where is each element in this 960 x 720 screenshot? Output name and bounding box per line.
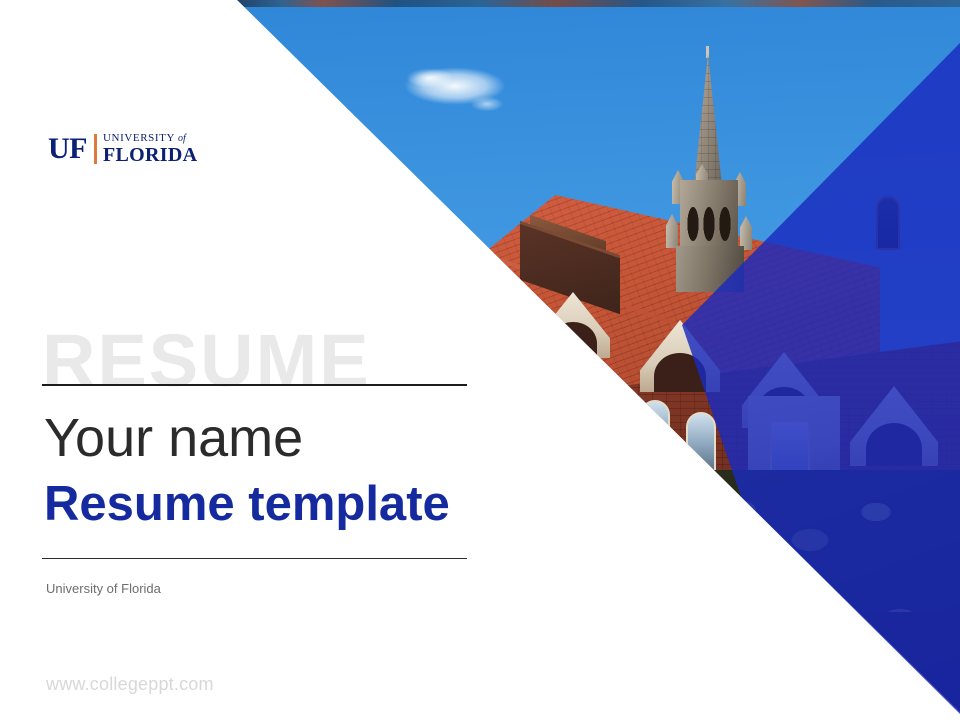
uf-divider-bar (94, 134, 97, 164)
uf-logo[interactable]: UF UNIVERSITY of FLORIDA (48, 131, 197, 167)
uf-wordmark: UNIVERSITY of FLORIDA (103, 133, 197, 165)
divider-rule-top (42, 384, 467, 386)
page-subtitle: Resume template (44, 478, 450, 531)
slide-canvas: UF UNIVERSITY of FLORIDA RESUME Your nam… (0, 0, 960, 720)
uf-monogram: UF (48, 134, 87, 164)
footer-url[interactable]: www.collegeppt.com (46, 674, 214, 695)
uf-university-line: UNIVERSITY of (103, 133, 197, 144)
page-title: Your name (44, 409, 303, 467)
divider-rule-bottom (42, 558, 467, 559)
uf-of-text: of (178, 133, 186, 144)
uf-florida-line: FLORIDA (103, 145, 197, 165)
resume-watermark: RESUME (42, 324, 371, 398)
uf-university-text: UNIVERSITY (103, 132, 178, 144)
slide-content: UF UNIVERSITY of FLORIDA RESUME Your nam… (0, 0, 960, 720)
affiliation-label: University of Florida (46, 581, 161, 596)
